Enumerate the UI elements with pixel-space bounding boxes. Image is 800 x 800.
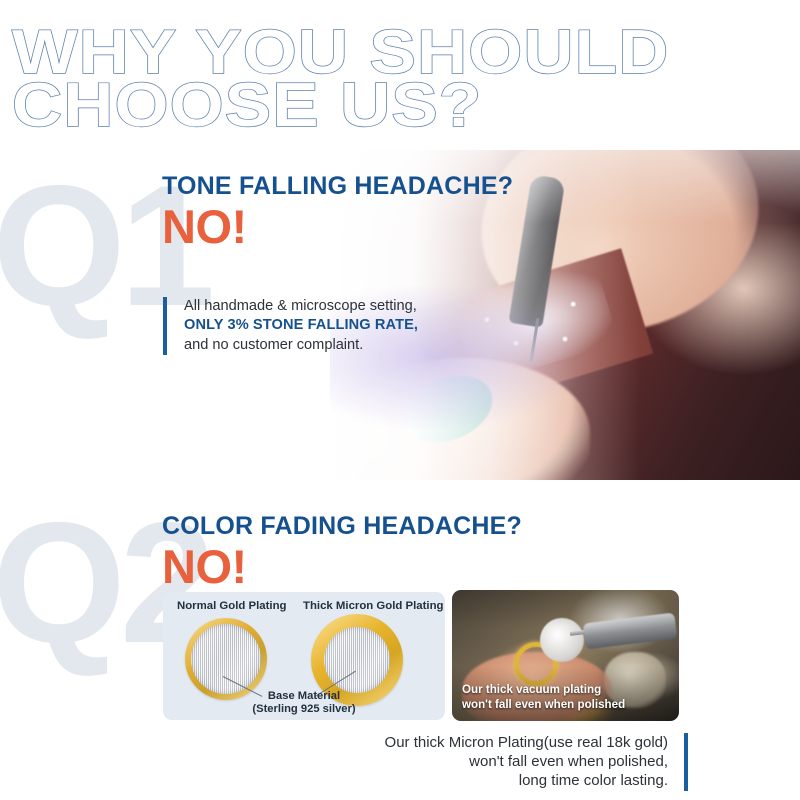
polishing-photo: Our thick vacuum plating won't fall even… (452, 590, 679, 721)
normal-plating-coin (185, 618, 267, 700)
base-material-caption: Base Material (Sterling 925 silver) (163, 690, 445, 717)
bottom-note-line-1: Our thick Micron Plating(use real 18k go… (300, 733, 668, 752)
bottom-note-line-3: long time color lasting. (300, 771, 668, 790)
base-material-caption-line-1: Base Material (163, 690, 445, 703)
polishing-photo-caption: Our thick vacuum plating won't fall even… (462, 683, 671, 712)
thick-plating-label: Thick Micron Gold Plating (303, 600, 444, 612)
q1-quote-line-3: and no customer complaint. (184, 336, 418, 355)
headline-line-2: CHOOSE US? (12, 79, 800, 132)
infographic-page: WHY YOU SHOULD CHOOSE US? Q1 TONE FALLIN… (0, 0, 800, 800)
base-material-caption-line-2: (Sterling 925 silver) (163, 703, 445, 716)
q2-question-title: COLOR FADING HEADACHE? (162, 512, 522, 541)
bottom-note-block: Our thick Micron Plating(use real 18k go… (300, 733, 688, 791)
q1-quote-line-2: ONLY 3% STONE FALLING RATE, (184, 316, 418, 335)
q1-quote-block: All handmade & microscope setting, ONLY … (163, 297, 418, 355)
plating-comparison-diagram: Normal Gold Plating Thick Micron Gold Pl… (163, 592, 445, 720)
q1-quote-line-1: All handmade & microscope setting, (184, 297, 418, 316)
polishing-caption-line-2: won't fall even when polished (462, 698, 671, 712)
q1-answer: NO! (162, 203, 247, 250)
q1-question-title: TONE FALLING HEADACHE? (162, 172, 513, 201)
page-headline: WHY YOU SHOULD CHOOSE US? (12, 26, 772, 133)
normal-plating-label: Normal Gold Plating (177, 600, 287, 612)
q2-answer: NO! (162, 543, 247, 590)
bottom-note-line-2: won't fall even when polished, (300, 752, 668, 771)
normal-plating-base-core (191, 624, 261, 694)
polishing-caption-line-1: Our thick vacuum plating (462, 683, 671, 697)
